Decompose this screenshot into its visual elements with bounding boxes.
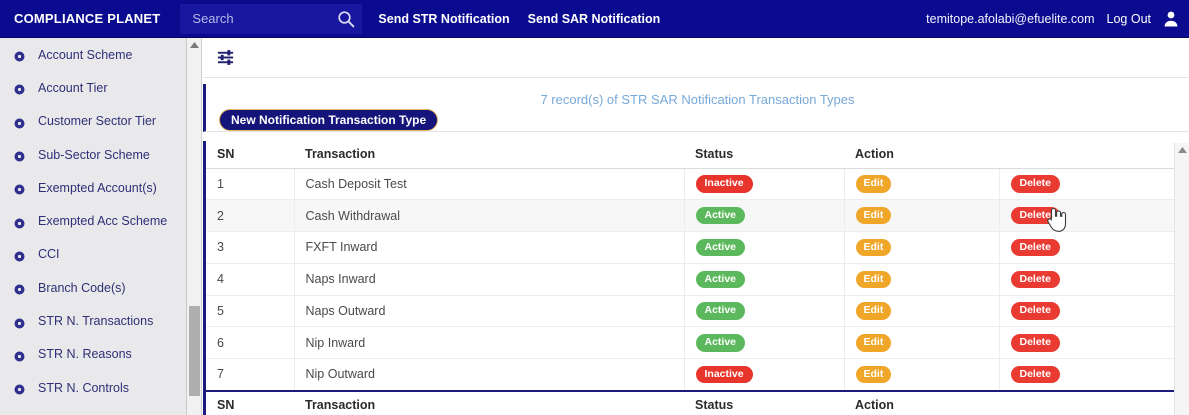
- status-badge[interactable]: Active: [696, 239, 746, 257]
- sidebar-item-customer-sector-tier[interactable]: Customer Sector Tier: [0, 105, 186, 138]
- edit-button[interactable]: Edit: [856, 334, 892, 352]
- sidebar-scrollbar-thumb[interactable]: [189, 306, 200, 396]
- cell-transaction: Naps Inward: [294, 263, 684, 295]
- delete-button[interactable]: Delete: [1011, 239, 1061, 257]
- cell-transaction: FXFT Inward: [294, 232, 684, 264]
- cell-transaction: Naps Outward: [294, 295, 684, 327]
- status-badge[interactable]: Active: [696, 207, 746, 225]
- cell-sn: 5: [206, 295, 294, 327]
- cell-action: Edit: [844, 263, 999, 295]
- sidebar-item-branch-codes[interactable]: Branch Code(s): [0, 271, 186, 304]
- delete-button[interactable]: Delete: [1011, 334, 1061, 352]
- status-badge[interactable]: Active: [696, 334, 746, 352]
- cell-sn: 7: [206, 359, 294, 391]
- cell-status: Active: [684, 295, 844, 327]
- footer-column-transaction[interactable]: Transaction: [294, 391, 684, 415]
- gear-dot-icon: [14, 249, 25, 260]
- sliders-filter-icon[interactable]: [212, 45, 238, 71]
- table-row: 6 Nip Inward Active Edit Delete: [206, 327, 1174, 359]
- delete-button[interactable]: Delete: [1011, 366, 1061, 384]
- table-scrollbar[interactable]: [1174, 143, 1189, 415]
- gear-dot-icon: [14, 282, 25, 293]
- edit-button[interactable]: Edit: [856, 366, 892, 384]
- cell-transaction: Nip Inward: [294, 327, 684, 359]
- cell-status: Active: [684, 232, 844, 264]
- sidebar-item-label: STR N. Reasons: [38, 347, 132, 361]
- sidebar-item-label: Exempted Acc Scheme: [38, 214, 167, 228]
- cell-sn: 6: [206, 327, 294, 359]
- delete-button[interactable]: Delete: [1011, 302, 1061, 320]
- table-footer-row: SN Transaction Status Action: [206, 391, 1174, 415]
- table-row: 1 Cash Deposit Test Inactive Edit Delete: [206, 168, 1174, 200]
- cell-action: Edit: [844, 200, 999, 232]
- cell-action: Edit: [844, 232, 999, 264]
- footer-column-blank: [999, 391, 1174, 415]
- cell-action: Edit: [844, 295, 999, 327]
- sidebar-item-str-n-controls[interactable]: STR N. Controls: [0, 371, 186, 404]
- column-header-status[interactable]: Status: [684, 141, 844, 168]
- cell-sn: 1: [206, 168, 294, 200]
- chevron-up-icon[interactable]: [1175, 143, 1189, 157]
- app-brand-title: COMPLIANCE PLANET: [0, 11, 160, 26]
- cell-transaction: Cash Deposit Test: [294, 168, 684, 200]
- cell-transaction: Cash Withdrawal: [294, 200, 684, 232]
- footer-column-action[interactable]: Action: [844, 391, 999, 415]
- new-notification-transaction-type-button[interactable]: New Notification Transaction Type: [219, 109, 438, 131]
- cell-delete: Delete: [999, 327, 1174, 359]
- search-box[interactable]: [180, 4, 362, 34]
- cell-action: Edit: [844, 359, 999, 391]
- cell-status: Inactive: [684, 359, 844, 391]
- cell-delete: Delete: [999, 359, 1174, 391]
- table-foot: SN Transaction Status Action: [206, 391, 1174, 415]
- sidebar-item-label: CCI: [38, 247, 60, 261]
- logout-link[interactable]: Log Out: [1107, 12, 1151, 26]
- sidebar-scrollbar[interactable]: [187, 38, 202, 415]
- delete-button[interactable]: Delete: [1011, 207, 1061, 225]
- cell-status: Active: [684, 200, 844, 232]
- sidebar-item-label: STR N. Controls: [38, 381, 129, 395]
- edit-button[interactable]: Edit: [856, 207, 892, 225]
- table-body: 1 Cash Deposit Test Inactive Edit Delete…: [206, 168, 1174, 391]
- cell-action: Edit: [844, 327, 999, 359]
- cell-transaction: Nip Outward: [294, 359, 684, 391]
- sidebar-item-cci[interactable]: CCI: [0, 238, 186, 271]
- sidebar-item-account-scheme[interactable]: Account Scheme: [0, 38, 186, 71]
- chevron-up-icon[interactable]: [187, 38, 202, 52]
- gear-dot-icon: [14, 316, 25, 327]
- cell-delete: Delete: [999, 295, 1174, 327]
- column-header-action[interactable]: Action: [844, 141, 999, 168]
- primary-nav-links: Send STR Notification Send SAR Notificat…: [378, 12, 660, 26]
- sidebar-item-str-n-reasons[interactable]: STR N. Reasons: [0, 338, 186, 371]
- status-badge[interactable]: Inactive: [696, 175, 753, 193]
- table-head: SN Transaction Status Action: [206, 141, 1174, 168]
- sidebar-item-label: STR N. Transactions: [38, 314, 153, 328]
- gear-dot-icon: [14, 82, 25, 93]
- gear-dot-icon: [14, 149, 25, 160]
- table-row: 2 Cash Withdrawal Active Edit Delete: [206, 200, 1174, 232]
- table-action-card: 7 record(s) of STR SAR Notification Tran…: [203, 84, 1189, 132]
- sidebar-item-label: Sub-Sector Scheme: [38, 148, 150, 162]
- nav-user-area: temitope.afolabi@efuelite.com Log Out: [926, 10, 1189, 27]
- column-header-blank: [999, 141, 1174, 168]
- table-row: 3 FXFT Inward Active Edit Delete: [206, 232, 1174, 264]
- gear-dot-icon: [14, 182, 25, 193]
- user-avatar-icon[interactable]: [1163, 10, 1179, 27]
- column-header-sn[interactable]: SN: [206, 141, 294, 168]
- status-badge[interactable]: Active: [696, 271, 746, 289]
- gear-dot-icon: [14, 216, 25, 227]
- table-row: 5 Naps Outward Active Edit Delete: [206, 295, 1174, 327]
- search-input[interactable]: [180, 5, 328, 33]
- cell-sn: 3: [206, 232, 294, 264]
- cell-delete: Delete: [999, 168, 1174, 200]
- footer-column-status[interactable]: Status: [684, 391, 844, 415]
- edit-button[interactable]: Edit: [856, 175, 892, 193]
- content-toolbar: [203, 38, 1189, 78]
- record-count-label: 7 record(s) of STR SAR Notification Tran…: [206, 92, 1189, 107]
- cell-delete: Delete: [999, 200, 1174, 232]
- cell-status: Active: [684, 263, 844, 295]
- cell-delete: Delete: [999, 232, 1174, 264]
- nav-link-send-sar-notification[interactable]: Send SAR Notification: [528, 12, 661, 26]
- status-badge[interactable]: Inactive: [696, 366, 753, 384]
- gear-dot-icon: [14, 116, 25, 127]
- gear-dot-icon: [14, 382, 25, 393]
- cell-status: Inactive: [684, 168, 844, 200]
- table-header-row: SN Transaction Status Action: [206, 141, 1174, 168]
- gear-dot-icon: [14, 349, 25, 360]
- user-email-label: temitope.afolabi@efuelite.com: [926, 12, 1094, 26]
- search-icon[interactable]: [336, 9, 356, 29]
- cell-sn: 2: [206, 200, 294, 232]
- data-table: SN Transaction Status Action 1 Cash Depo…: [206, 141, 1174, 415]
- delete-button[interactable]: Delete: [1011, 175, 1061, 193]
- status-badge[interactable]: Active: [696, 302, 746, 320]
- cell-sn: 4: [206, 263, 294, 295]
- cell-action: Edit: [844, 168, 999, 200]
- sidebar-item-account-tier[interactable]: Account Tier: [0, 71, 186, 104]
- nav-link-send-str-notification[interactable]: Send STR Notification: [378, 12, 509, 26]
- gear-dot-icon: [14, 49, 25, 60]
- main-content-area: 7 record(s) of STR SAR Notification Tran…: [203, 38, 1189, 415]
- sidebar-item-label: Exempted Account(s): [38, 181, 157, 195]
- top-navigation-bar: COMPLIANCE PLANET Send STR Notification …: [0, 0, 1189, 38]
- sidebar-navigation: Account Scheme Account Tier Customer Sec…: [0, 38, 187, 415]
- sidebar-item-exempted-acc-scheme[interactable]: Exempted Acc Scheme: [0, 204, 186, 237]
- sidebar-item-label: Branch Code(s): [38, 281, 126, 295]
- sidebar-item-label: Account Tier: [38, 81, 107, 95]
- sidebar-item-exempted-accounts[interactable]: Exempted Account(s): [0, 171, 186, 204]
- table-row: 4 Naps Inward Active Edit Delete: [206, 263, 1174, 295]
- column-header-transaction[interactable]: Transaction: [294, 141, 684, 168]
- cell-status: Active: [684, 327, 844, 359]
- sidebar-item-label: Customer Sector Tier: [38, 114, 156, 128]
- sidebar-item-label: Account Scheme: [38, 48, 133, 62]
- delete-button[interactable]: Delete: [1011, 271, 1061, 289]
- footer-column-sn[interactable]: SN: [206, 391, 294, 415]
- edit-button[interactable]: Edit: [856, 239, 892, 257]
- sidebar-item-sub-sector-scheme[interactable]: Sub-Sector Scheme: [0, 138, 186, 171]
- edit-button[interactable]: Edit: [856, 271, 892, 289]
- edit-button[interactable]: Edit: [856, 302, 892, 320]
- notification-transaction-types-table: SN Transaction Status Action 1 Cash Depo…: [203, 141, 1174, 415]
- sidebar-item-str-n-transactions[interactable]: STR N. Transactions: [0, 304, 186, 337]
- cell-delete: Delete: [999, 263, 1174, 295]
- table-row: 7 Nip Outward Inactive Edit Delete: [206, 359, 1174, 391]
